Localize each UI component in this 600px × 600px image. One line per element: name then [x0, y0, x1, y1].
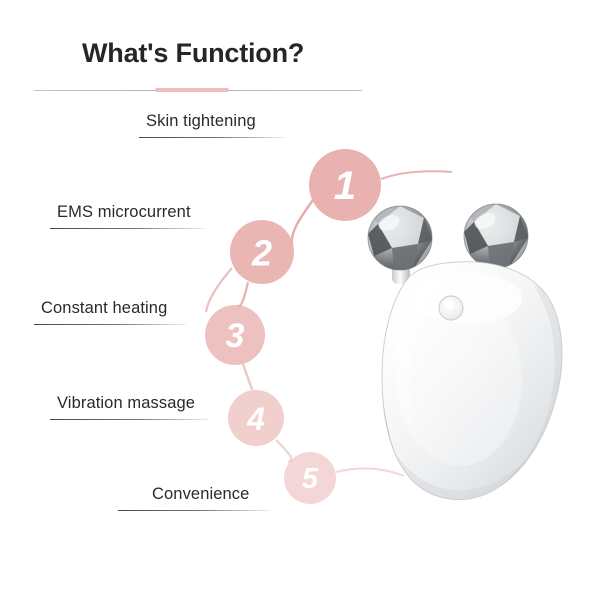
feature-underline-4	[50, 419, 209, 420]
product-device-image	[348, 190, 588, 530]
step-number-4: 4	[246, 401, 265, 437]
feature-label-1: Skin tightening	[146, 112, 256, 131]
feature-label-2: EMS microcurrent	[57, 203, 191, 222]
feature-underline-1	[139, 137, 285, 138]
step-circle-2[interactable]: 2	[230, 220, 294, 284]
device-body	[369, 262, 576, 510]
feature-underline-3	[34, 324, 186, 325]
feature-label-3: Constant heating	[41, 299, 167, 318]
step-circle-3[interactable]: 3	[205, 305, 265, 365]
feature-label-4: Vibration massage	[57, 394, 195, 413]
step-number-2: 2	[251, 233, 272, 274]
infographic-canvas: What's Function? Skin tighteningEMS micr…	[0, 0, 600, 600]
page-title: What's Function?	[82, 38, 304, 69]
feature-underline-5	[118, 510, 270, 511]
feature-underline-2	[50, 228, 205, 229]
step-number-3: 3	[226, 317, 245, 355]
feature-label-5: Convenience	[152, 485, 249, 504]
step-circle-5[interactable]: 5	[284, 452, 336, 504]
power-button[interactable]	[439, 296, 463, 320]
roller-left	[368, 202, 432, 278]
step-number-5: 5	[302, 463, 319, 495]
step-circle-4[interactable]: 4	[228, 390, 284, 446]
title-divider-accent	[155, 88, 229, 92]
